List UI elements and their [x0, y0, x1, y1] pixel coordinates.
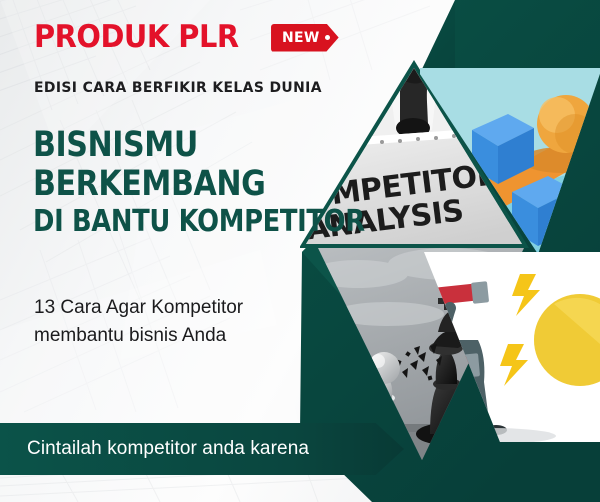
edition-line: EDISI CARA BERFIKIR KELAS DUNIA	[34, 80, 322, 96]
ribbon-label: Cintailah kompetitor anda karena	[0, 438, 309, 460]
subtitle: 13 Cara Agar Kompetitor membantu bisnis …	[34, 294, 243, 350]
header-row: PRODUK PLR NEW	[34, 22, 339, 53]
growth-cubes-tile	[420, 68, 600, 264]
new-badge: NEW	[271, 24, 339, 52]
subtitle-line-2: membantu bisnis Anda	[34, 322, 243, 350]
headline-line-1: BISNISMU	[33, 126, 365, 164]
new-badge-label: NEW	[282, 31, 320, 45]
headline: BISNISMU BERKEMBANG DI BANTU KOMPETITOR	[33, 126, 419, 240]
blue-cubes-sphere-illustration	[420, 68, 600, 264]
magnet-idea-tile	[404, 252, 600, 452]
brand-title: PRODUK PLR	[34, 22, 239, 53]
bottom-ribbon: Cintailah kompetitor anda karena	[0, 423, 404, 475]
magnet-lightbulb-illustration	[404, 252, 600, 452]
headline-line-3: DI BANTU KOMPETITOR	[33, 204, 365, 240]
subtitle-line-1: 13 Cara Agar Kompetitor	[34, 294, 243, 322]
magnet-lower	[409, 353, 480, 379]
headline-line-2: BERKEMBANG	[33, 164, 365, 204]
tag-icon	[325, 35, 330, 40]
promo-banner: OMPETITOR ANALYSIS	[0, 0, 600, 502]
